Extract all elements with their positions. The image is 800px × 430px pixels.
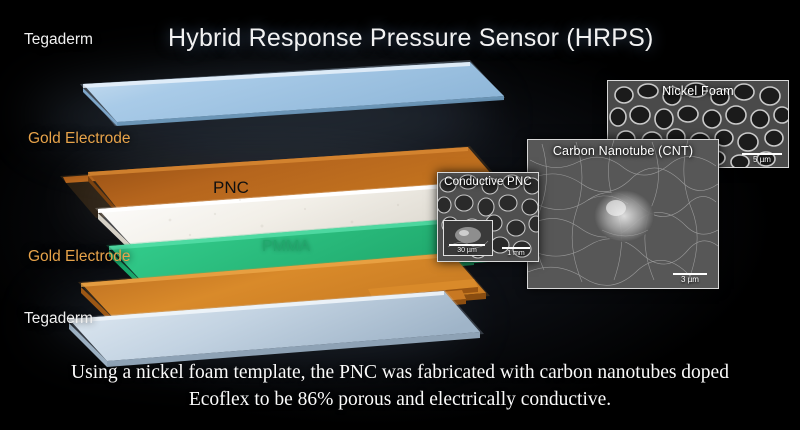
sem-caption-carbon-nanotube: Carbon Nanotube (CNT) [528,144,718,158]
layer-label-pnc: PNC [213,178,249,198]
layer-label-gold-electrode-bottom: Gold Electrode [28,248,131,266]
scale-bar-label: 3 µm [681,275,699,284]
layer-tegaderm-bottom [66,290,484,367]
scale-bar-label: 5 µm [753,155,771,164]
figure-caption: Using a nickel foam template, the PNC wa… [0,359,800,414]
sem-panel-carbon-nanotube: Carbon Nanotube (CNT) 3 µm [527,139,719,289]
scale-bar-line [502,247,530,249]
figure-canvas: Hybrid Response Pressure Sensor (HRPS) T… [0,0,800,430]
figure-title: Hybrid Response Pressure Sensor (HRPS) [168,24,654,53]
sem-image-carbon-nanotube [528,140,718,288]
glow-haze-bottom [40,280,470,360]
figure-caption-line-1: Using a nickel foam template, the PNC wa… [0,359,800,387]
layer-label-gold-electrode-top: Gold Electrode [28,130,131,148]
scale-bar-conductive-pnc: 1 mm [499,247,533,257]
layer-gold-electrode-bottom [78,252,490,329]
layer-label-tegaderm-top: Tegaderm [24,31,93,49]
scale-bar-carbon-nanotube: 3 µm [670,273,710,284]
sem-caption-conductive-pnc: Conductive PNC [438,176,538,188]
scale-bar-line [449,244,485,246]
sem-inset-conductive-pnc-zoom: 30 µm [443,220,493,256]
glow-haze-middle [70,165,450,235]
layer-tegaderm-top [80,60,505,126]
scale-bar-label: 1 mm [507,250,525,257]
scale-bar-conductive-pnc-zoom: 30 µm [446,244,488,254]
figure-caption-line-2: Ecoflex to be 86% porous and electricall… [0,386,800,414]
layer-label-tegaderm-bottom: Tegaderm [24,310,93,328]
scale-bar-nickel-foam: 5 µm [740,153,784,164]
sem-panel-conductive-pnc: Conductive PNC 30 µm 1 mm [437,172,539,262]
layer-label-pmma: PMMA [262,238,310,256]
sem-caption-nickel-foam: Nickel Foam [608,84,788,98]
scale-bar-label: 30 µm [457,247,477,254]
